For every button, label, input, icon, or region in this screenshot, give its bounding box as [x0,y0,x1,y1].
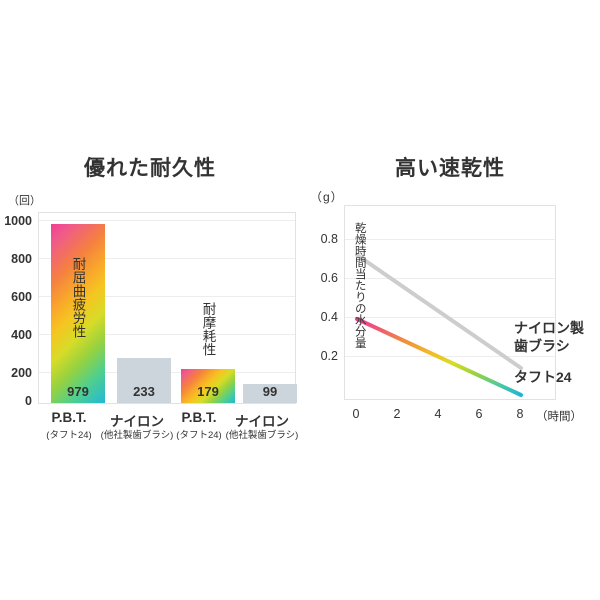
bar-value-99: 99 [243,384,297,399]
quickdry-y-axis-caption: 乾燥時間当たりの水分量 [353,222,365,349]
quickdry-xtick-8: 8 [508,407,532,421]
durability-plot-area: 979 耐屈曲疲労性 233 179 耐摩耗性 99 [38,212,296,404]
durability-ytick-600: 600 [0,290,32,304]
gridline-1000 [39,220,295,221]
durability-chart-title: 優れた耐久性 [0,152,300,182]
durability-ytick-1000: 1000 [0,214,32,228]
bar-value-233: 233 [117,384,171,399]
bar-pbt-abrasion: 179 [181,369,235,403]
durability-ytick-800: 800 [0,252,32,266]
quickdry-chart-panel: 高い速乾性 （g） 0.8 0.6 0.4 0.2 [300,0,600,600]
quickdry-ytick-0.6: 0.6 [300,271,338,285]
series-label-nylon: ナイロン製 歯ブラシ [514,320,584,355]
series-line-nylon [357,255,521,368]
bar-value-979: 979 [51,384,105,399]
bar-nylon-flex: 233 [117,358,171,403]
quickdry-x-unit: （時間） [536,408,582,424]
durability-chart-panel: 優れた耐久性 （回） 1000 800 600 400 200 0 979 耐屈… [0,0,300,600]
quickdry-xtick-2: 2 [385,407,409,421]
quickdry-xtick-0: 0 [344,407,368,421]
durability-ytick-400: 400 [0,328,32,342]
durability-ytick-0: 0 [0,394,32,408]
series-label-tuft24: タフト24 [514,369,572,387]
quickdry-ytick-0.4: 0.4 [300,310,338,324]
bar-value-179: 179 [181,384,235,399]
quickdry-ytick-0.2: 0.2 [300,349,338,363]
bar-group-label-abrasion: 耐摩耗性 [200,302,215,356]
quickdry-ytick-0.8: 0.8 [300,232,338,246]
quickdry-chart-title: 高い速乾性 [300,152,600,182]
infographic-root: 優れた耐久性 （回） 1000 800 600 400 200 0 979 耐屈… [0,0,600,600]
xsub-3: (他社製歯ブラシ) [211,427,313,441]
quickdry-y-unit: （g） [310,188,344,205]
bar-nylon-abrasion: 99 [243,384,297,403]
durability-y-unit: （回） [8,192,41,208]
bar-group-label-durability: 耐屈曲疲労性 [70,257,85,338]
quickdry-xtick-6: 6 [467,407,491,421]
quickdry-xtick-4: 4 [426,407,450,421]
durability-ytick-200: 200 [0,366,32,380]
series-line-tuft24 [357,319,521,395]
